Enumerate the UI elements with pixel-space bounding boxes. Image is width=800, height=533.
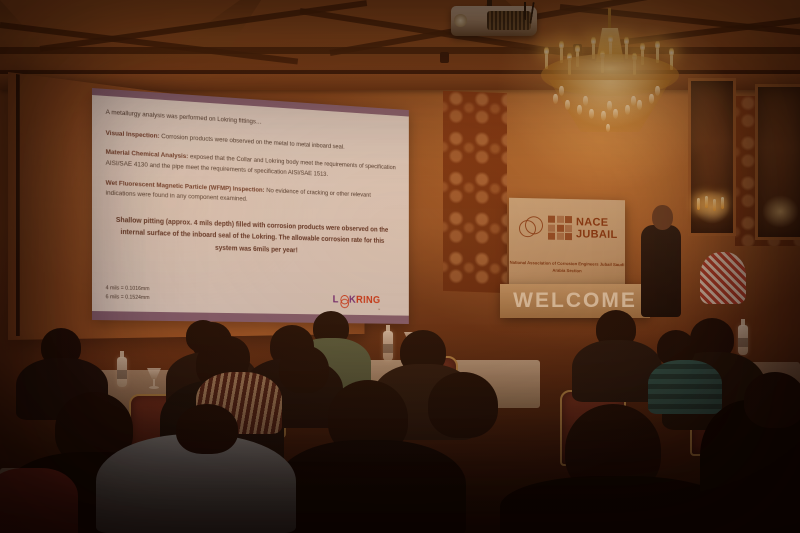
banner-title-jubail: JUBAIL (576, 229, 618, 241)
wall-sconce-light (705, 196, 708, 208)
water-bottle (117, 357, 127, 387)
slide-section-material-chemical-analysis: Material Chemical Analysis: exposed that… (106, 148, 398, 184)
slide-heading-material-chemical-analysis: Material Chemical Analysis: (106, 149, 189, 160)
slide-unit-conversions: 4 mils = 0.1016mm 6 mils = 0.1524mm (106, 285, 150, 302)
speaker-head (652, 205, 673, 230)
banner-subtitle: National Association of Corrosion Engine… (509, 260, 625, 276)
water-bottle (738, 325, 748, 355)
nace-rings-icon (518, 214, 544, 241)
lokring-logo-letter-k: K (349, 292, 356, 309)
audience-member-head (744, 372, 800, 428)
wall-mirror-panel (755, 84, 800, 240)
slide-text-visual-inspection: Corrosion products were observed on the … (160, 133, 345, 151)
lokring-rings-icon (339, 295, 348, 307)
slide-section-wfmp-inspection: Wet Fluorescent Magnetic Particle (WFMP)… (106, 178, 398, 212)
slide-content: A metallurgy analysis was performed on L… (92, 95, 409, 316)
slide-heading-visual-inspection: Visual Inspection: (106, 129, 160, 139)
audience-member-plaid-shirt (648, 360, 722, 414)
lokring-logo: L K RING ™ (333, 292, 381, 310)
audience-member-head (176, 404, 238, 454)
ceiling-downlight (440, 52, 449, 63)
damask-wallpaper-panel (443, 91, 507, 293)
conference-room-photo: A metallurgy analysis was performed on L… (0, 0, 800, 533)
audience-member-red-shirt (0, 468, 78, 533)
nace-grid-icon (548, 216, 572, 241)
speaker-person (641, 225, 681, 317)
audience-member-torso (276, 440, 466, 533)
audience-member-head (428, 372, 498, 438)
audience-member-torso (500, 476, 730, 533)
projection-screen-edge (16, 74, 20, 336)
wall-sconce-light (721, 197, 724, 209)
conversion-6-mils: 6 mils = 0.1524mm (106, 293, 150, 302)
water-bottle (383, 331, 393, 361)
crystal-chandelier (527, 8, 693, 140)
attendee-traditional-headwear (700, 252, 746, 304)
drinking-glass (147, 368, 161, 390)
lokring-trademark-mark: ™ (378, 308, 381, 313)
wall-sconce-light (713, 199, 716, 211)
presentation-slide: A metallurgy analysis was performed on L… (92, 88, 409, 324)
slide-emphasis-conclusion: Shallow pitting (approx. 4 mils depth) f… (115, 214, 389, 259)
audience-member-head (279, 345, 329, 393)
projector-lens-icon (454, 14, 467, 27)
lokring-logo-letter-l: L (333, 292, 339, 309)
wall-sconce-light (697, 198, 700, 210)
projector-cable (524, 2, 526, 20)
banner-title-nace: NACE (576, 217, 618, 229)
wall-mirror-panel (688, 78, 736, 236)
conversion-4-mils: 4 mils = 0.1016mm (106, 285, 150, 294)
